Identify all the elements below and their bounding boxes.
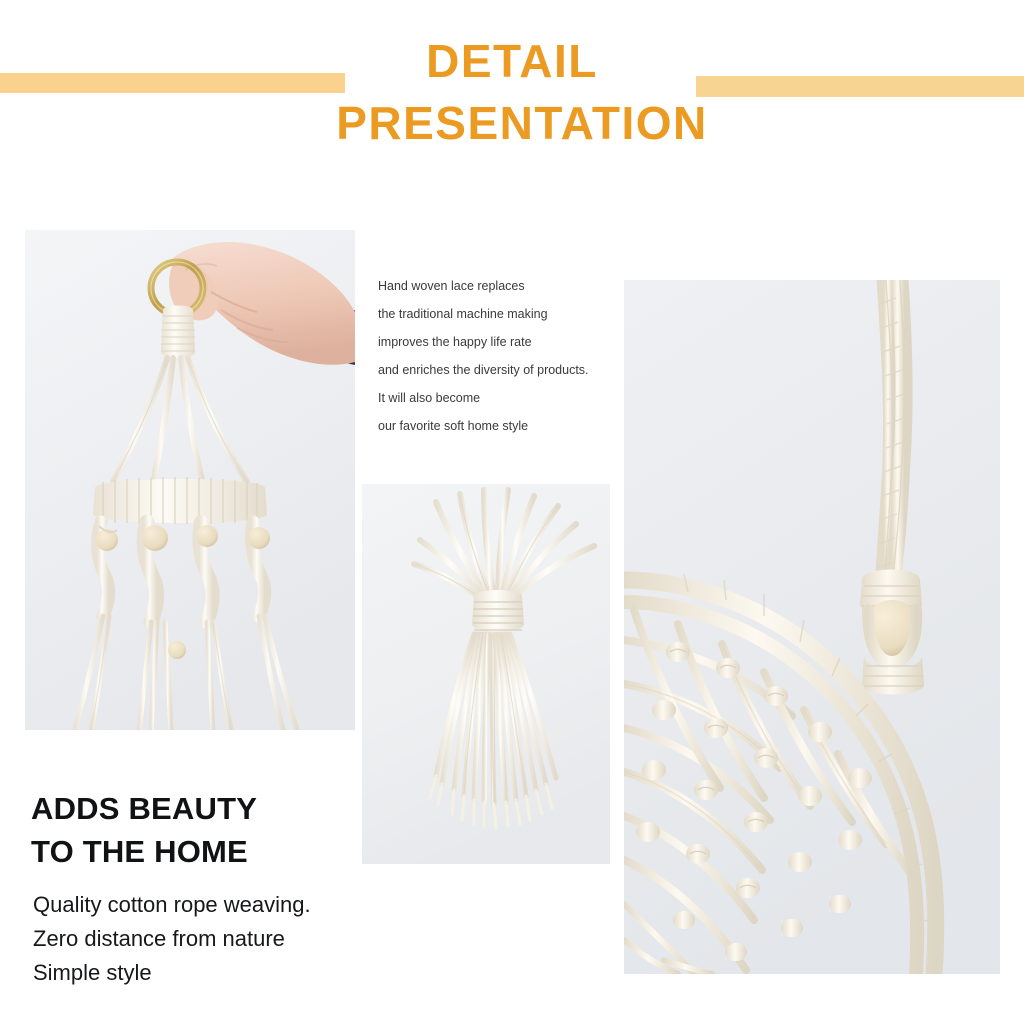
photo-macrame-net-closeup (624, 280, 1000, 974)
photo-hand-holding-macrame-ring (25, 230, 355, 730)
photo-macrame-tassel-closeup (362, 484, 610, 864)
promo-headline-line-1: ADDS BEAUTY (31, 787, 257, 830)
promo-subcopy-line-1: Quality cotton rope weaving. (33, 888, 311, 922)
description-line-1: Hand woven lace replaces (378, 272, 623, 300)
photo-macrame-tassel-graphic (362, 484, 610, 864)
page-title-line-1: DETAIL (0, 38, 1024, 84)
photo-hand-holding-macrame-ring-graphic (25, 230, 355, 730)
description-line-4: and enriches the diversity of products. (378, 356, 623, 384)
promo-headline-line-2: TO THE HOME (31, 830, 257, 873)
promo-headline: ADDS BEAUTY TO THE HOME (31, 787, 257, 873)
promo-subcopy-line-2: Zero distance from nature (33, 922, 311, 956)
description-line-6: our favorite soft home style (378, 412, 623, 440)
photo-macrame-net-graphic (624, 280, 1000, 974)
promo-subcopy: Quality cotton rope weaving. Zero distan… (33, 888, 311, 990)
description-line-5: It will also become (378, 384, 623, 412)
promo-subcopy-line-3: Simple style (33, 956, 311, 990)
product-description-text: Hand woven lace replaces the traditional… (378, 272, 623, 440)
page-title-line-2: PRESENTATION (22, 100, 1022, 146)
description-line-3: improves the happy life rate (378, 328, 623, 356)
description-line-2: the traditional machine making (378, 300, 623, 328)
